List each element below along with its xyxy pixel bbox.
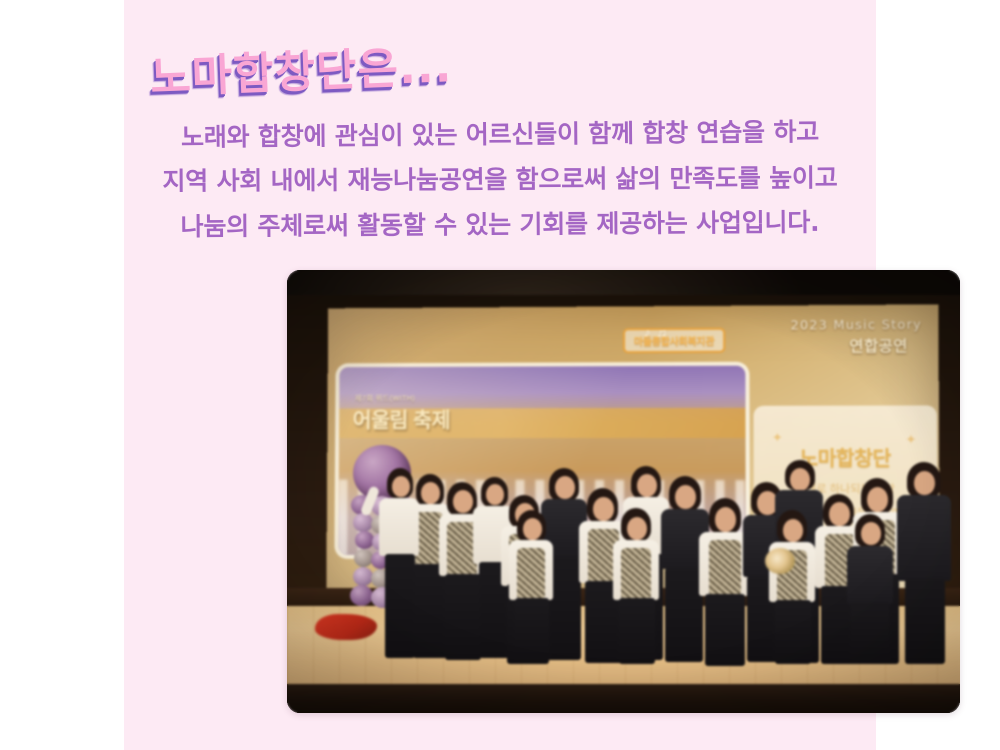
content-panel: 노마합창단은... 노래와 합창에 관심이 있는 어르신들이 함께 합창 연습을… [124,0,876,750]
page-title: 노마합창단은... [149,30,453,106]
description-line-2: 지역 사회 내에서 재능나눔공연을 함으로써 삶의 만족도를 높이고 [124,155,876,204]
poster-page: 노마합창단은... 노래와 합창에 관심이 있는 어르신들이 함께 합창 연습을… [0,0,1000,750]
description-line-1: 노래와 합창에 관심이 있는 어르신들이 함께 합창 연습을 하고 [124,109,876,161]
description-block: 노래와 합창에 관심이 있는 어르신들이 함께 합창 연습을 하고 지역 사회 … [124,112,876,247]
choir-members [287,270,960,713]
group-photo: 2023 Music Story 연합공연 ♪ ♬ 제7회 위드(WITH) 어… [287,270,960,713]
description-line-3: 나눔의 주체로써 활동할 수 있는 기회를 제공하는 사업입니다. [124,199,876,249]
